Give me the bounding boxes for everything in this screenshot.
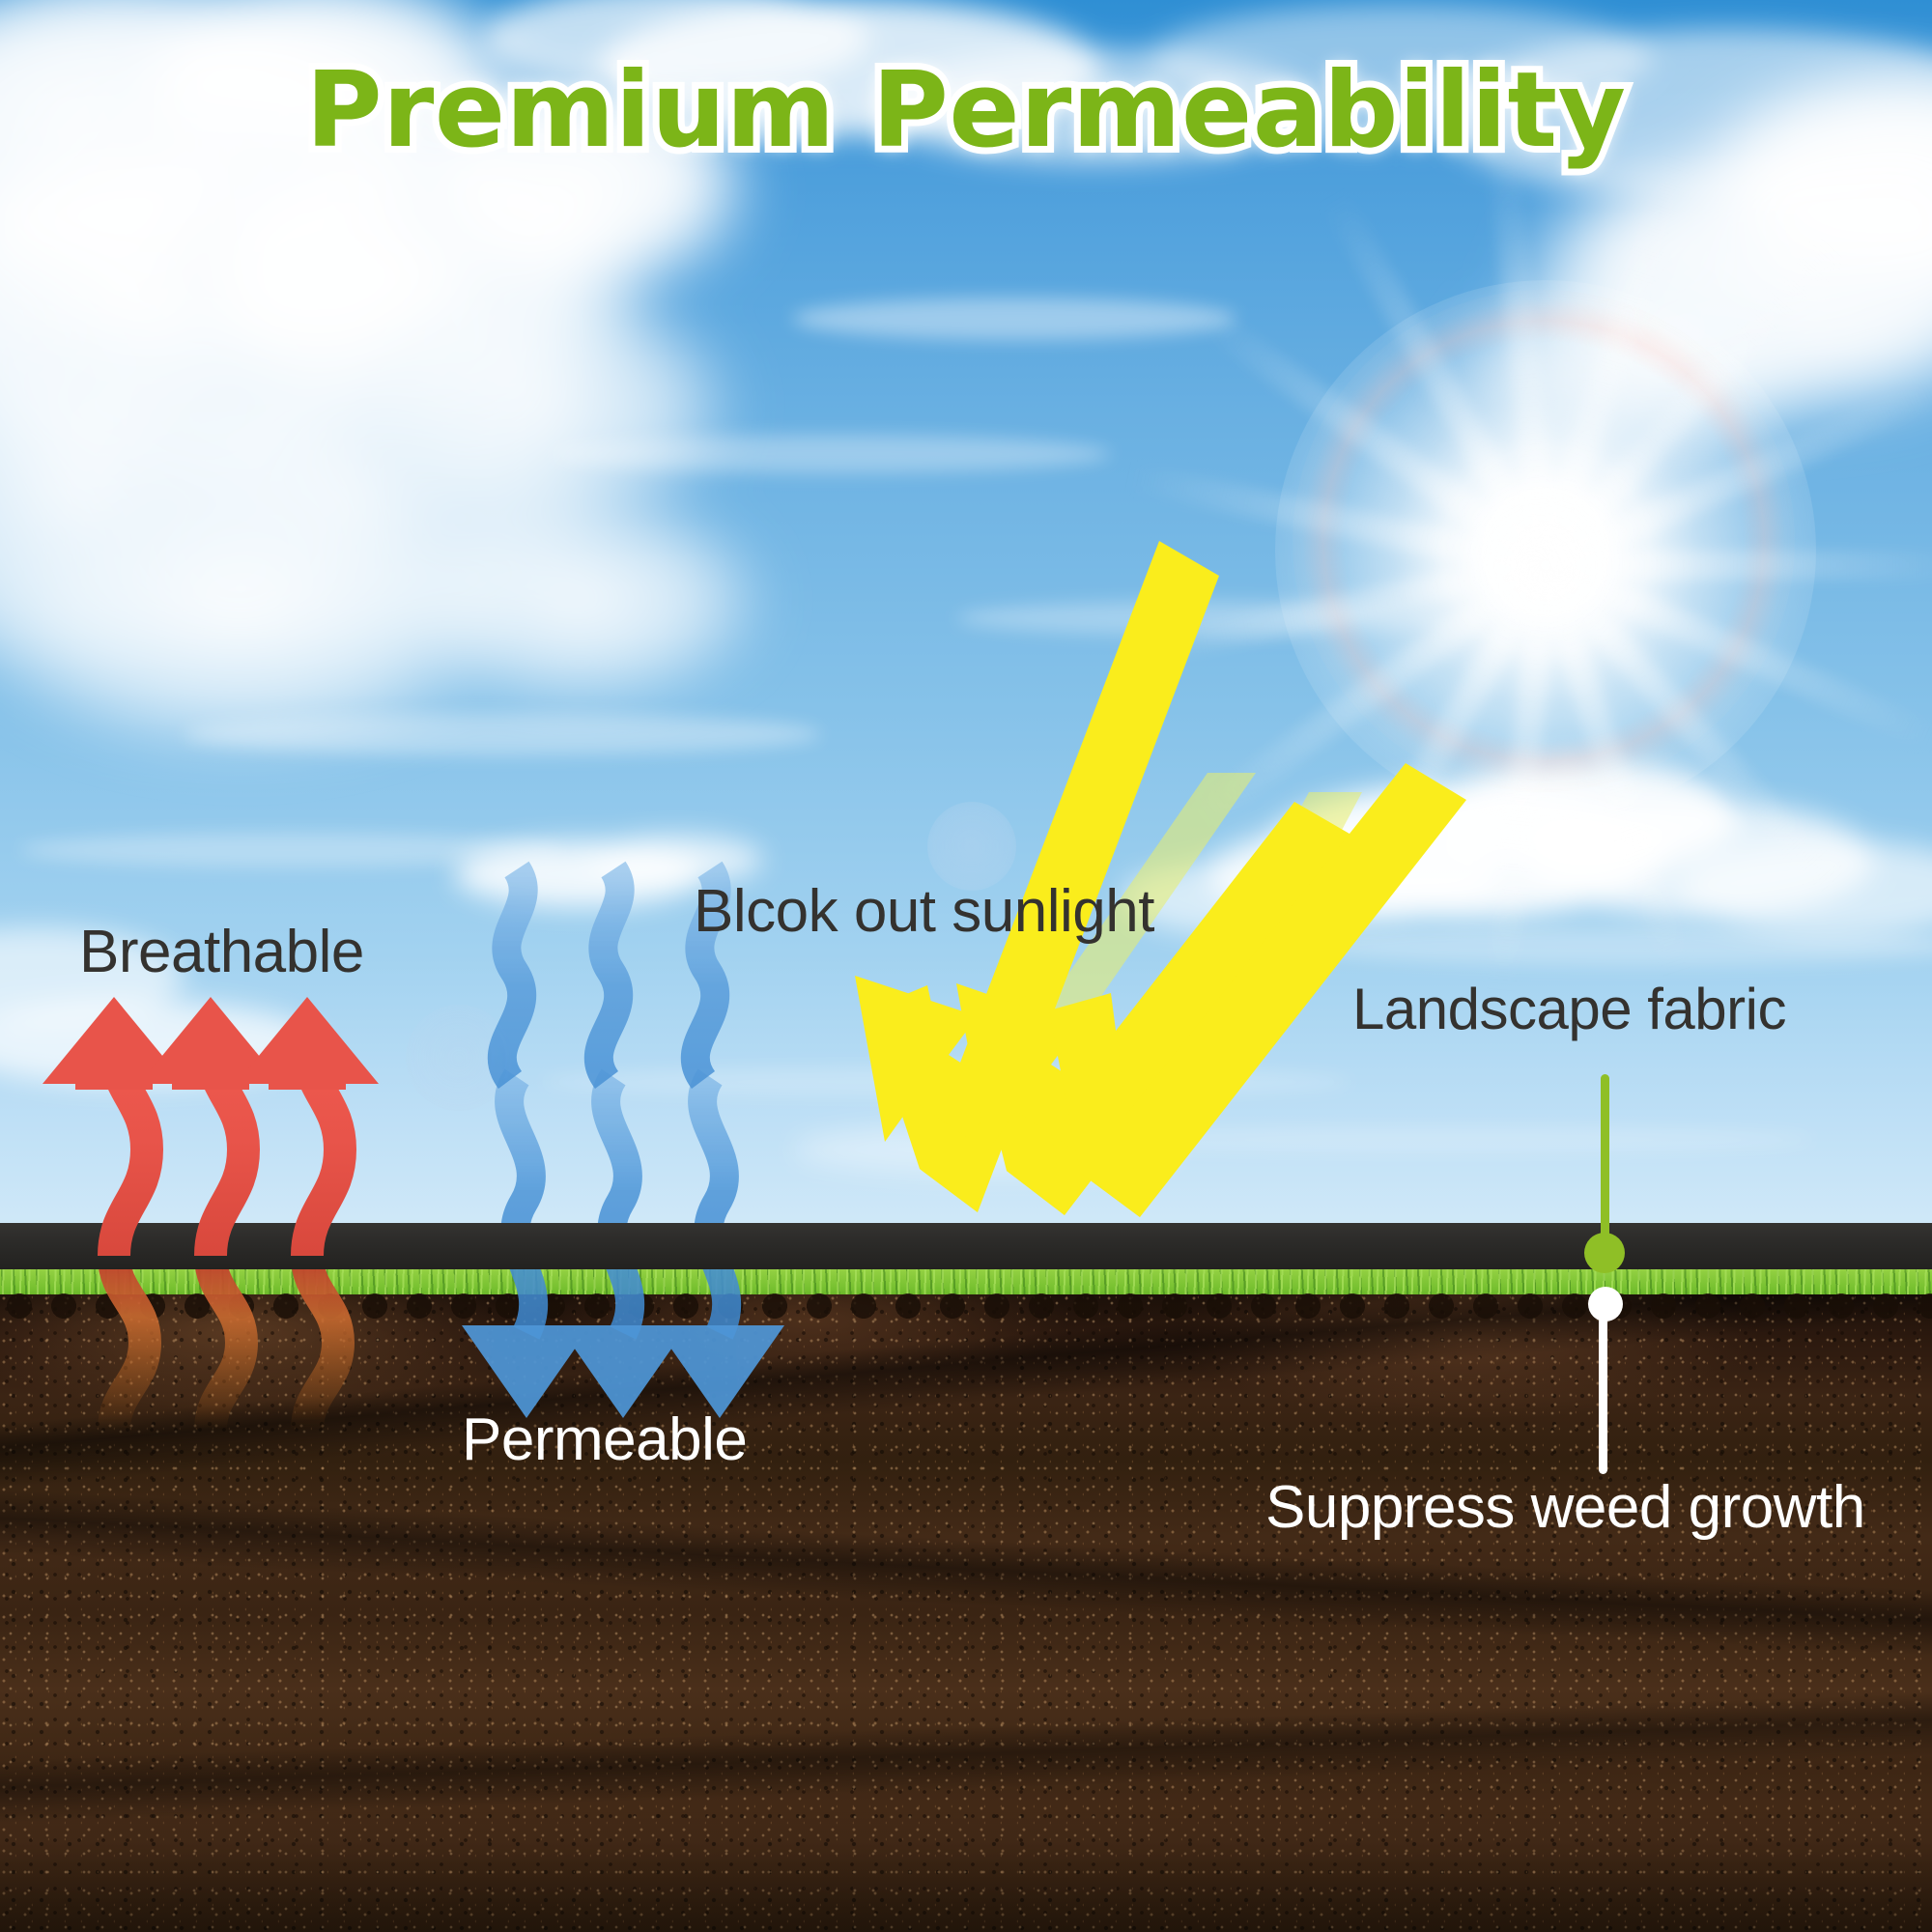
label-permeable: Permeable xyxy=(462,1406,747,1474)
landscape-fabric-band xyxy=(0,1223,1932,1269)
landscape-fabric-pointer-dot xyxy=(1584,1233,1625,1273)
weed-pointer-line xyxy=(1599,1302,1607,1474)
label-block-sunlight: Blcok out sunlight xyxy=(694,877,1154,946)
label-landscape-fabric: Landscape fabric xyxy=(1352,976,1786,1042)
landscape-fabric-pointer-line xyxy=(1601,1074,1609,1246)
page-title: Premium Permeability xyxy=(0,50,1932,171)
infographic-canvas: Premium Permeability xyxy=(0,0,1932,1932)
label-breathable: Breathable xyxy=(79,918,364,986)
label-suppress-weed: Suppress weed growth xyxy=(1265,1473,1865,1542)
